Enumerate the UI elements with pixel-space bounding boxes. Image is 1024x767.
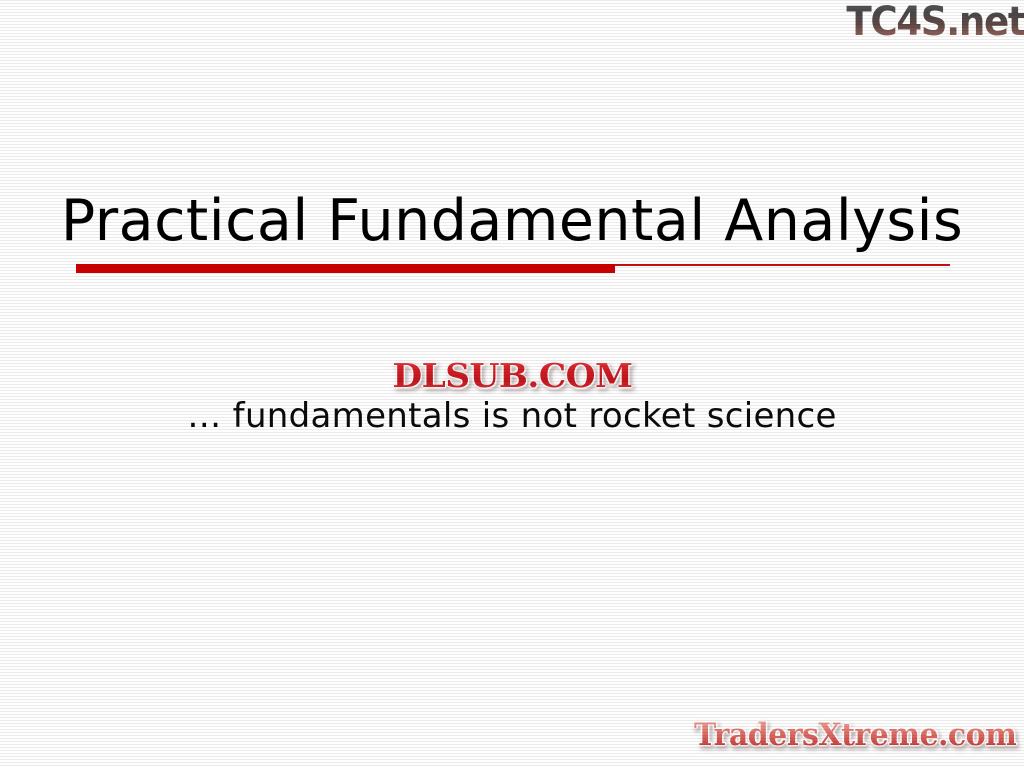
dlsub-watermark: DLSUB.COM — [0, 358, 1024, 394]
tradersxtreme-logo: TradersXtreme.com — [694, 717, 1016, 753]
page-subtitle: … fundamentals is not rocket science — [187, 396, 836, 436]
presentation-slide: TC4S.net Practical Fundamental Analysis … — [0, 0, 1024, 767]
page-title: Practical Fundamental Analysis — [0, 186, 1024, 256]
scanline-overlay — [0, 0, 1024, 767]
title-underline-rule — [615, 264, 950, 266]
tc4s-logo: TC4S.net — [846, 1, 1024, 43]
title-underline-bar — [76, 264, 615, 273]
dlsub-watermark-text: DLSUB.COM — [392, 358, 632, 394]
subtitle-block: … fundamentals is not rocket science — [0, 396, 1024, 436]
title-block: Practical Fundamental Analysis — [0, 186, 1024, 256]
title-underline — [76, 264, 950, 273]
